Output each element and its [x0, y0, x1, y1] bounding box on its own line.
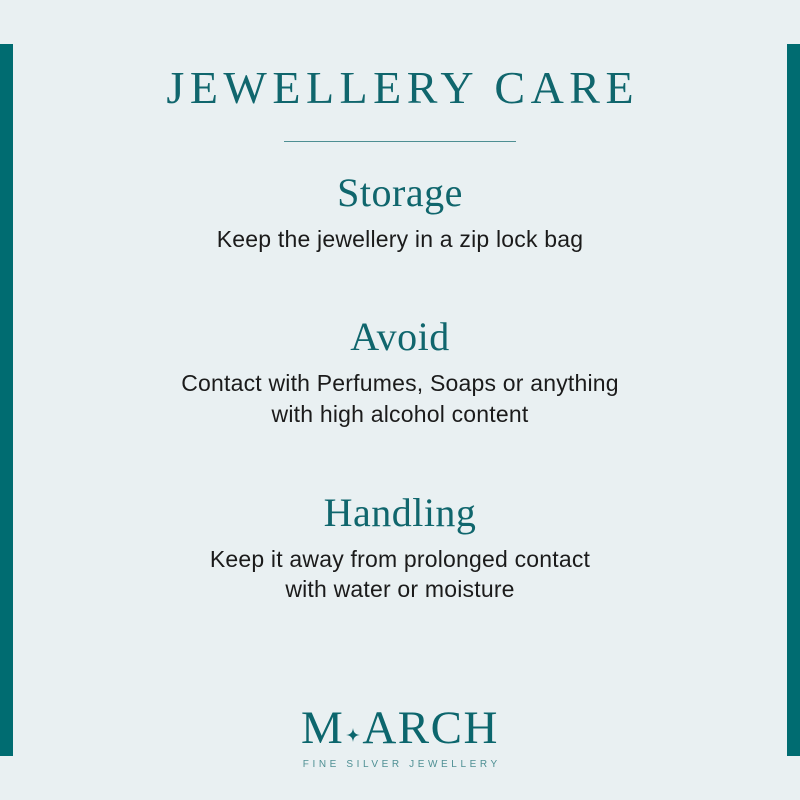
brand-wordmark-m: M	[301, 705, 344, 752]
section-body-avoid: Contact with Perfumes, Soaps or anything…	[90, 368, 710, 429]
brand-wordmark: M ARCH	[301, 705, 499, 752]
jewellery-care-card: JEWELLERY CARE Storage Keep the jeweller…	[0, 0, 800, 800]
section-heading-storage: Storage	[90, 171, 710, 216]
page-title: JEWELLERY CARE	[0, 0, 800, 112]
section-avoid: Avoid Contact with Perfumes, Soaps or an…	[90, 315, 710, 429]
title-divider-rule	[284, 141, 516, 142]
section-body-handling: Keep it away from prolonged contact with…	[90, 544, 710, 605]
content-column: JEWELLERY CARE Storage Keep the jeweller…	[0, 0, 800, 604]
brand-tagline: FINE SILVER JEWELLERY	[0, 759, 800, 770]
section-heading-handling: Handling	[90, 491, 710, 536]
brand-lockup: M ARCH FINE SILVER JEWELLERY	[0, 705, 800, 770]
brand-wordmark-arch: ARCH	[362, 705, 499, 752]
sparkle-diamond-icon	[346, 728, 360, 742]
section-handling: Handling Keep it away from prolonged con…	[90, 491, 710, 605]
section-storage: Storage Keep the jewellery in a zip lock…	[90, 171, 710, 254]
section-heading-avoid: Avoid	[90, 315, 710, 360]
section-body-storage: Keep the jewellery in a zip lock bag	[90, 224, 710, 254]
